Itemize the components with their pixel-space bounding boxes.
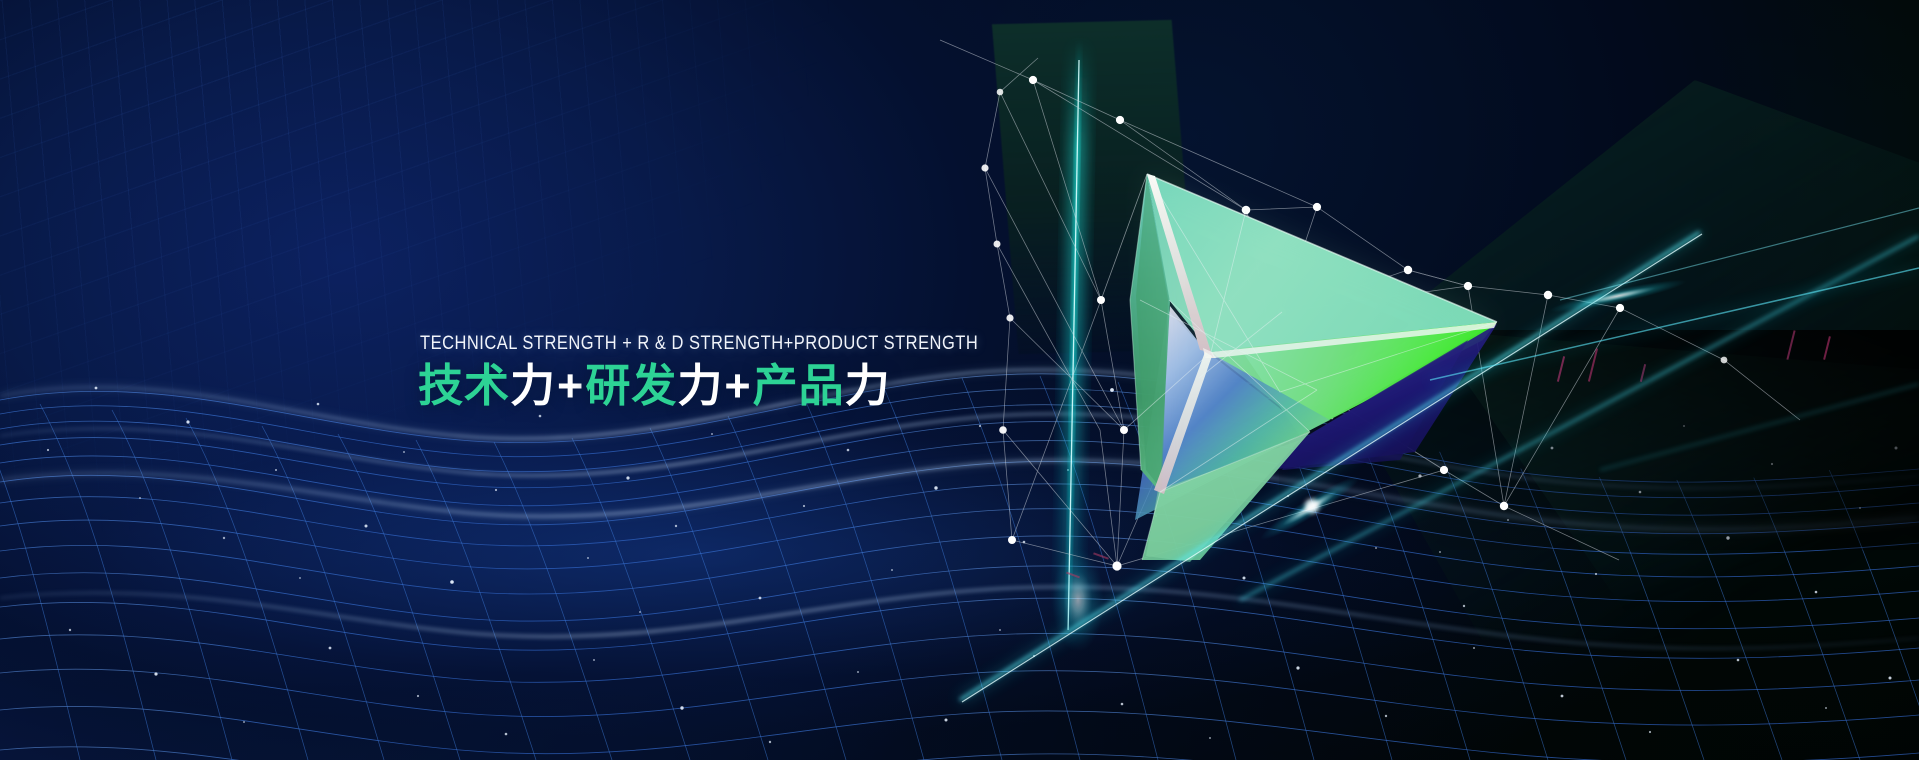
headline-chinese-segment-5: + bbox=[723, 360, 752, 411]
headline-block: TECHNICAL STRENGTH + R & D STRENGTH+PROD… bbox=[418, 332, 1058, 410]
headline-chinese: 技术力+研发力+产品力 bbox=[418, 362, 1058, 410]
diagonal-cyan-light-streak bbox=[960, 208, 1919, 702]
headline-chinese-segment-1: 力 bbox=[510, 360, 556, 411]
headline-chinese-segment-3: 研发 bbox=[585, 360, 677, 411]
headline-chinese-segment-6: 产品 bbox=[753, 360, 845, 411]
headline-chinese-segment-0: 技术 bbox=[418, 360, 510, 411]
headline-chinese-segment-7: 力 bbox=[845, 360, 891, 411]
3d-play-arrow-prism bbox=[1101, 174, 1497, 562]
headline-chinese-segment-2: + bbox=[556, 360, 585, 411]
headline-chinese-segment-4: 力 bbox=[677, 360, 723, 411]
hero-banner: TECHNICAL STRENGTH + R & D STRENGTH+PROD… bbox=[0, 0, 1919, 760]
vertical-cyan-light-beam bbox=[1052, 40, 1104, 652]
headline-english: TECHNICAL STRENGTH + R & D STRENGTH+PROD… bbox=[420, 332, 959, 355]
